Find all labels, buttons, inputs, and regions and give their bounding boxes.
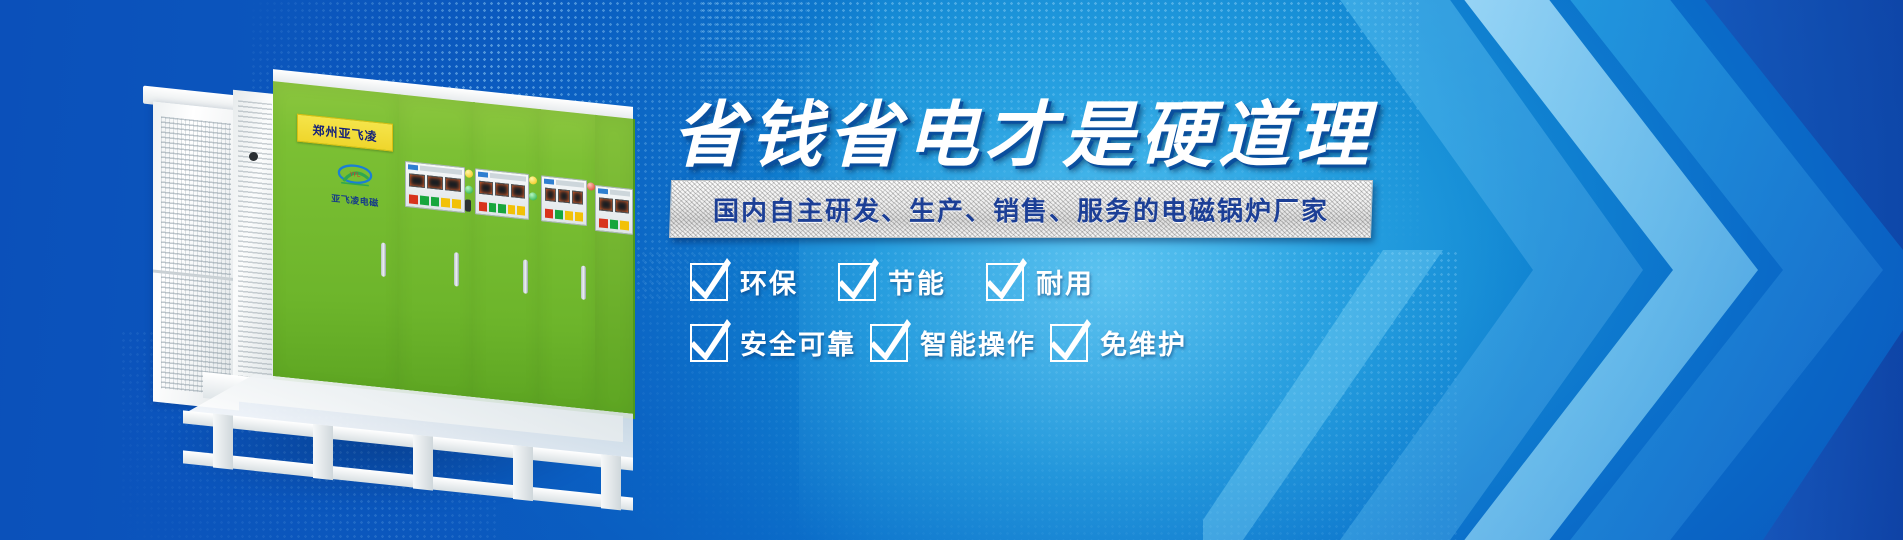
indicator-lamp-yellow-1 <box>465 169 473 178</box>
cabinet-panel-1: 郑州亚飞凌 YFL 亚飞凌电磁 <box>273 81 401 394</box>
left-vented-tower <box>153 101 239 410</box>
panel-indicator-leds <box>599 218 629 230</box>
panel-label-strip <box>556 180 584 188</box>
logo-swirl-icon: YFL <box>332 161 378 190</box>
panel-label-strip <box>420 166 462 175</box>
feature-label: 免维护 <box>1100 323 1187 362</box>
panel-display-meters <box>599 197 629 213</box>
checkbox-check-icon <box>690 324 728 362</box>
secondary-vented-tower <box>233 90 277 405</box>
feature-item: 耐用 <box>986 262 1094 301</box>
pallet-leg-4 <box>513 445 533 501</box>
cabinet-handle-2 <box>454 252 459 287</box>
feature-item: 免维护 <box>1050 323 1187 362</box>
feature-label: 安全可靠 <box>740 323 856 362</box>
feature-item: 环保 <box>690 262 798 301</box>
logo-text: 亚飞凌电磁 <box>315 189 395 210</box>
headline-slogan: 省钱省电才是硬道理 <box>672 76 1374 181</box>
feature-label: 环保 <box>740 262 798 301</box>
panel-brand-mark <box>544 179 554 185</box>
indicator-lamp-yellow-2 <box>529 176 537 185</box>
checkbox-check-icon <box>690 263 728 301</box>
panel-switch-1 <box>465 199 471 212</box>
brand-logo: YFL 亚飞凌电磁 <box>315 159 395 211</box>
panel-display-meters <box>479 181 525 199</box>
panel-indicator-leds <box>545 209 583 222</box>
cabinet-panel-4 <box>539 109 597 415</box>
indicator-lamp-green-1 <box>465 185 473 194</box>
cabinet-handle-3 <box>523 259 528 294</box>
panel-display-meters <box>545 188 583 205</box>
control-panel-4 <box>595 185 633 235</box>
subtitle-plate: 国内自主研发、生产、销售、服务的电磁锅炉厂家 <box>669 180 1373 238</box>
panel-label-strip <box>610 190 630 197</box>
pallet-leg-2 <box>313 424 333 480</box>
tower-knob <box>249 152 258 161</box>
panel-brand-mark <box>408 164 418 170</box>
pallet-leg-5 <box>601 454 621 510</box>
cabinet-panel-2 <box>399 94 475 402</box>
feature-label: 节能 <box>888 262 946 301</box>
pallet-leg-3 <box>413 435 433 491</box>
panel-brand-mark <box>478 172 488 178</box>
panel-indicator-leds <box>479 202 525 216</box>
panel-label-strip <box>490 173 526 182</box>
panel-display-meters <box>409 173 461 191</box>
checkbox-check-icon <box>838 263 876 301</box>
vent-grill <box>161 116 231 395</box>
cabinet-panel-3 <box>473 102 541 409</box>
panel-brand-mark <box>598 188 608 194</box>
feature-label: 智能操作 <box>920 323 1036 362</box>
feature-item: 安全可靠 <box>690 323 856 362</box>
promo-banner: 郑州亚飞凌 YFL 亚飞凌电磁 <box>0 0 1903 540</box>
checkbox-check-icon <box>870 324 908 362</box>
svg-text:YFL: YFL <box>349 171 361 179</box>
subtitle-text: 国内自主研发、生产、销售、服务的电磁锅炉厂家 <box>713 191 1329 228</box>
cabinet-panel-5: 亚飞凌 <box>595 115 635 419</box>
checkbox-check-icon <box>986 263 1024 301</box>
feature-label: 耐用 <box>1036 262 1094 301</box>
control-panel-1 <box>405 161 465 213</box>
pallet-leg-1 <box>213 414 233 470</box>
control-panel-3 <box>541 175 587 226</box>
feature-row-2: 安全可靠 智能操作 免维护 <box>690 323 1390 362</box>
cabinet-handle-1 <box>381 242 386 277</box>
product-nameplate: 郑州亚飞凌 <box>297 114 393 152</box>
control-panel-2 <box>475 168 529 220</box>
product-image-electromagnetic-boiler: 郑州亚飞凌 YFL 亚飞凌电磁 <box>125 78 645 498</box>
vent-grill-secondary <box>238 100 272 394</box>
green-cabinet-bank: 郑州亚飞凌 YFL 亚飞凌电磁 <box>273 81 633 419</box>
feature-list: 环保 节能 耐用 安全可靠 <box>690 262 1390 384</box>
feature-item: 智能操作 <box>870 323 1036 362</box>
feature-row-1: 环保 节能 耐用 <box>690 262 1390 301</box>
indicator-lamp-green-2 <box>529 192 537 201</box>
cabinet-handle-4 <box>581 265 586 300</box>
feature-item: 节能 <box>838 262 946 301</box>
checkbox-check-icon <box>1050 324 1088 362</box>
panel-indicator-leds <box>409 194 461 208</box>
indicator-lamp-red-1 <box>587 182 595 191</box>
